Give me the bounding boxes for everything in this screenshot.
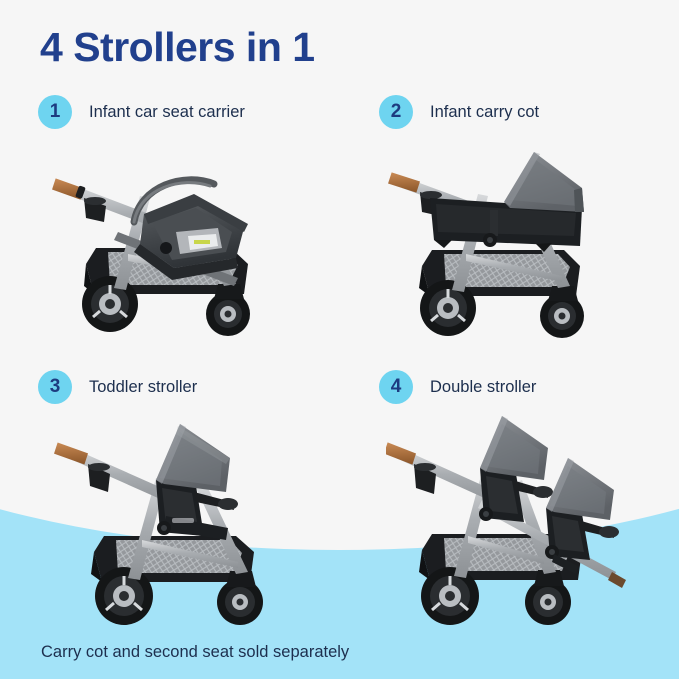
badge-number-4: 4: [379, 370, 413, 404]
promo-image-root: 4 Strollers in 1 1 Infant car seat carri…: [0, 0, 679, 679]
page-title: 4 Strollers in 1: [40, 24, 315, 71]
mode-label-1: 1 Infant car seat carrier: [38, 95, 245, 129]
badge-number-1: 1: [38, 95, 72, 129]
footnote-text: Carry cot and second seat sold separatel…: [41, 643, 349, 662]
stroller-image-4: [386, 404, 676, 629]
badge-number-2: 2: [379, 95, 413, 129]
stroller-infant-car-seat-icon: [48, 136, 348, 346]
mode-label-text-4: Double stroller: [430, 378, 536, 397]
stroller-image-2: [386, 136, 676, 346]
mode-label-4: 4 Double stroller: [379, 370, 536, 404]
stroller-toddler-icon: [48, 404, 348, 629]
stroller-image-3: [48, 404, 348, 629]
mode-label-text-3: Toddler stroller: [89, 378, 197, 397]
badge-number-3: 3: [38, 370, 72, 404]
mode-label-3: 3 Toddler stroller: [38, 370, 197, 404]
mode-label-2: 2 Infant carry cot: [379, 95, 539, 129]
stroller-carry-cot-icon: [386, 136, 676, 346]
stroller-image-1: [48, 136, 348, 346]
mode-label-text-2: Infant carry cot: [430, 103, 539, 122]
stroller-double-icon: [386, 404, 676, 629]
mode-label-text-1: Infant car seat carrier: [89, 103, 245, 122]
